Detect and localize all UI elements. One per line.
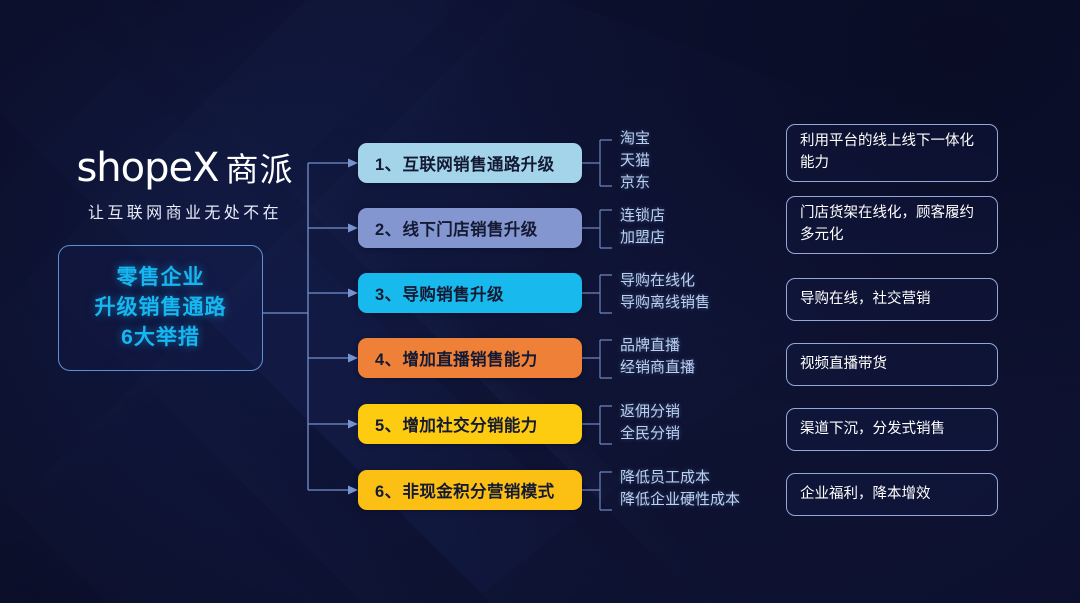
measure-label-4: 增加直播销售能力 [402,346,537,370]
outcome-text-2: 门店货架在线化，顾客履约多元化 [800,203,984,247]
sub-item: 天猫 [620,150,790,172]
outcome-text-4: 视频直播带货 [800,354,887,376]
measure-box-4[interactable]: 4、增加直播销售能力 [358,338,582,378]
outcome-text-5: 渠道下沉，分发式销售 [800,419,945,441]
outcome-text-1: 利用平台的线上线下一体化能力 [800,131,984,175]
outcome-box-6[interactable]: 企业福利，降本增效 [786,473,998,516]
arrow-heads [348,159,358,495]
measure-seq-6: 6、 [375,478,401,502]
sub-item: 返佣分销 [620,401,790,423]
measure-seq-3: 3、 [375,281,401,305]
sub-list-5: 返佣分销 全民分销 [620,401,790,445]
outcome-text-3: 导购在线，社交营销 [800,289,931,311]
measure-label-3: 导购销售升级 [402,281,503,305]
outcome-box-3[interactable]: 导购在线，社交营销 [786,278,998,321]
measure-box-2[interactable]: 2、线下门店销售升级 [358,208,582,248]
measure-seq-4: 4、 [375,346,401,370]
measure-label-1: 互联网销售通路升级 [402,151,554,175]
sub-item: 品牌直播 [620,335,790,357]
measure-seq-5: 5、 [375,412,401,436]
slide-canvas: shopeX 商派 让互联网商业无处不在 零售企业 升级销售通路 6大举措 [0,0,1080,603]
measure-box-5[interactable]: 5、增加社交分销能力 [358,404,582,444]
sub-list-4: 品牌直播 经销商直播 [620,335,790,379]
measure-box-6[interactable]: 6、非现金积分营销模式 [358,470,582,510]
sub-list-2: 连锁店 加盟店 [620,205,790,249]
sub-item: 全民分销 [620,423,790,445]
sub-list-6: 降低员工成本 降低企业硬性成本 [620,467,790,511]
measure-seq-1: 1、 [375,151,401,175]
outcome-box-1[interactable]: 利用平台的线上线下一体化能力 [786,124,998,182]
sub-list-1: 淘宝 天猫 京东 [620,128,790,195]
measure-box-1[interactable]: 1、互联网销售通路升级 [358,143,582,183]
outcome-box-2[interactable]: 门店货架在线化，顾客履约多元化 [786,196,998,254]
sub-item: 降低员工成本 [620,467,790,489]
measure-seq-2: 2、 [375,216,401,240]
bracket-lines [582,140,612,510]
outcome-text-6: 企业福利，降本增效 [800,484,931,506]
sub-item: 京东 [620,172,790,194]
measure-box-3[interactable]: 3、导购销售升级 [358,273,582,313]
outcome-box-5[interactable]: 渠道下沉，分发式销售 [786,408,998,451]
sub-item: 淘宝 [620,128,790,150]
sub-item: 导购离线销售 [620,292,790,314]
measure-label-2: 线下门店销售升级 [402,216,537,240]
sub-item: 加盟店 [620,227,790,249]
measure-label-5: 增加社交分销能力 [402,412,537,436]
measure-label-6: 非现金积分营销模式 [402,478,554,502]
sub-item: 经销商直播 [620,357,790,379]
sub-list-3: 导购在线化 导购离线销售 [620,270,790,314]
sub-item: 导购在线化 [620,270,790,292]
sub-item: 连锁店 [620,205,790,227]
sub-item: 降低企业硬性成本 [620,489,790,511]
outcome-box-4[interactable]: 视频直播带货 [786,343,998,386]
